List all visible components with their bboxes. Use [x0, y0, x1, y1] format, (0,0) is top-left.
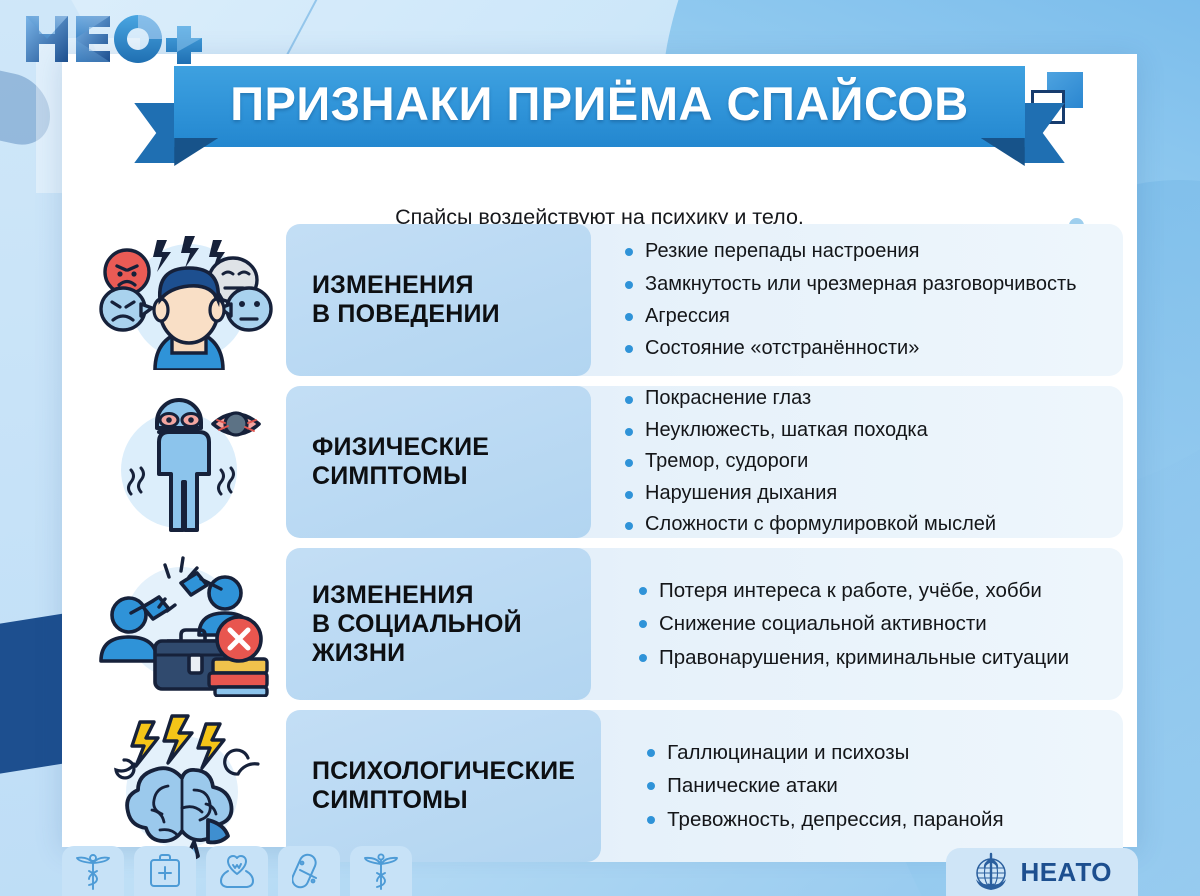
section-title-line-1: ИЗМЕНЕНИЯ — [312, 581, 474, 609]
list-item: Резкие перепады настроения — [625, 237, 1103, 265]
ribbon-tail-left — [134, 103, 176, 163]
section-label: ИЗМЕНЕНИЯ В ПОВЕДЕНИИ — [286, 224, 591, 376]
list-item: Замкнутость или чрезмерная разговорчивос… — [625, 270, 1103, 298]
list-item: Панические атаки — [647, 771, 1103, 800]
section-label: ФИЗИЧЕСКИЕ СИМПТОМЫ — [286, 386, 591, 538]
section-title-line-2: В ПОВЕДЕНИИ — [312, 300, 500, 328]
who-emblem-icon — [970, 851, 1012, 893]
neo-plus-logo — [24, 12, 202, 66]
ribbon-fold-left — [174, 138, 218, 166]
list-item: Галлюцинации и психозы — [647, 738, 1103, 767]
section-label: ИЗМЕНЕНИЯ В СОЦИАЛЬНОЙ ЖИЗНИ — [286, 548, 591, 700]
section-row: ИЗМЕНЕНИЯ В СОЦИАЛЬНОЙ ЖИЗНИ Потеря инте… — [86, 548, 1123, 700]
section-bullets: Покраснение глаз Неуклюжесть, шаткая пох… — [591, 386, 1123, 538]
content-card: ПРИЗНАКИ ПРИЁМА СПАЙСОВ Спайсы воздейств… — [62, 54, 1137, 847]
title-ribbon: ПРИЗНАКИ ПРИЁМА СПАЙСОВ — [62, 66, 1137, 147]
section-title-line-2: СИМПТОМЫ — [312, 462, 468, 490]
list-item: Агрессия — [625, 302, 1103, 330]
pill-capsule-icon — [278, 846, 340, 896]
list-item: Неуклюжесть, шаткая походка — [625, 417, 1103, 445]
brain-lightning-icon — [86, 710, 286, 862]
section-title-line-3: ЖИЗНИ — [312, 639, 405, 667]
list-item: Снижение социальной активности — [639, 609, 1103, 638]
list-item: Потеря интереса к работе, учёбе, хобби — [639, 576, 1103, 605]
trembling-body-red-eye-icon — [86, 386, 286, 538]
section-bullets: Потеря интереса к работе, учёбе, хобби С… — [591, 548, 1123, 700]
list-item: Тремор, судороги — [625, 448, 1103, 476]
caduceus-icon — [62, 846, 124, 896]
list-item: Тревожность, депрессия, паранойя — [647, 805, 1103, 834]
list-item: Покраснение глаз — [625, 386, 1103, 413]
section-row: ПСИХОЛОГИЧЕСКИЕ СИМПТОМЫ Галлюцинации и … — [86, 710, 1123, 862]
section-label: ПСИХОЛОГИЧЕСКИЕ СИМПТОМЫ — [286, 710, 601, 862]
sections-list: ИЗМЕНЕНИЯ В ПОВЕДЕНИИ Резкие перепады на… — [86, 224, 1123, 862]
ribbon-tail-right — [1023, 103, 1065, 163]
section-title-line-1: ИЗМЕНЕНИЯ — [312, 271, 474, 299]
list-item: Нарушения дыхания — [625, 480, 1103, 508]
infographic-poster: ПРИЗНАКИ ПРИЁМА СПАЙСОВ Спайсы воздейств… — [0, 0, 1200, 896]
section-title-line-2: СИМПТОМЫ — [312, 786, 468, 814]
caduceus-wings-icon — [350, 846, 412, 896]
section-row: ФИЗИЧЕСКИЕ СИМПТОМЫ Покраснение глаз Неу… — [86, 386, 1123, 538]
section-bullets: Резкие перепады настроения Замкнутость и… — [591, 224, 1123, 376]
organization-name: НЕАТО — [1020, 857, 1112, 888]
section-title-line-1: ПСИХОЛОГИЧЕСКИЕ — [312, 757, 575, 785]
list-item: Сложности с формулировкой мыслей — [625, 511, 1103, 538]
footer-bar: НЕАТО — [0, 846, 1200, 896]
first-aid-kit-icon — [134, 846, 196, 896]
section-title-line-1: ФИЗИЧЕСКИЕ — [312, 433, 489, 461]
mood-swings-person-icon — [86, 224, 286, 376]
list-item: Правонарушения, криминальные ситуации — [639, 643, 1103, 672]
broken-social-link-briefcase-icon — [86, 548, 286, 700]
footer-icon-strip — [62, 846, 412, 896]
list-item: Состояние «отстранённости» — [625, 334, 1103, 362]
page-title: ПРИЗНАКИ ПРИЁМА СПАЙСОВ — [230, 80, 969, 129]
section-title-line-2: В СОЦИАЛЬНОЙ — [312, 610, 522, 638]
ribbon-fold-right — [981, 138, 1025, 166]
heart-in-hands-icon — [206, 846, 268, 896]
organization-logo: НЕАТО — [946, 848, 1138, 896]
section-bullets: Галлюцинации и психозы Панические атаки … — [601, 710, 1123, 862]
section-row: ИЗМЕНЕНИЯ В ПОВЕДЕНИИ Резкие перепады на… — [86, 224, 1123, 376]
